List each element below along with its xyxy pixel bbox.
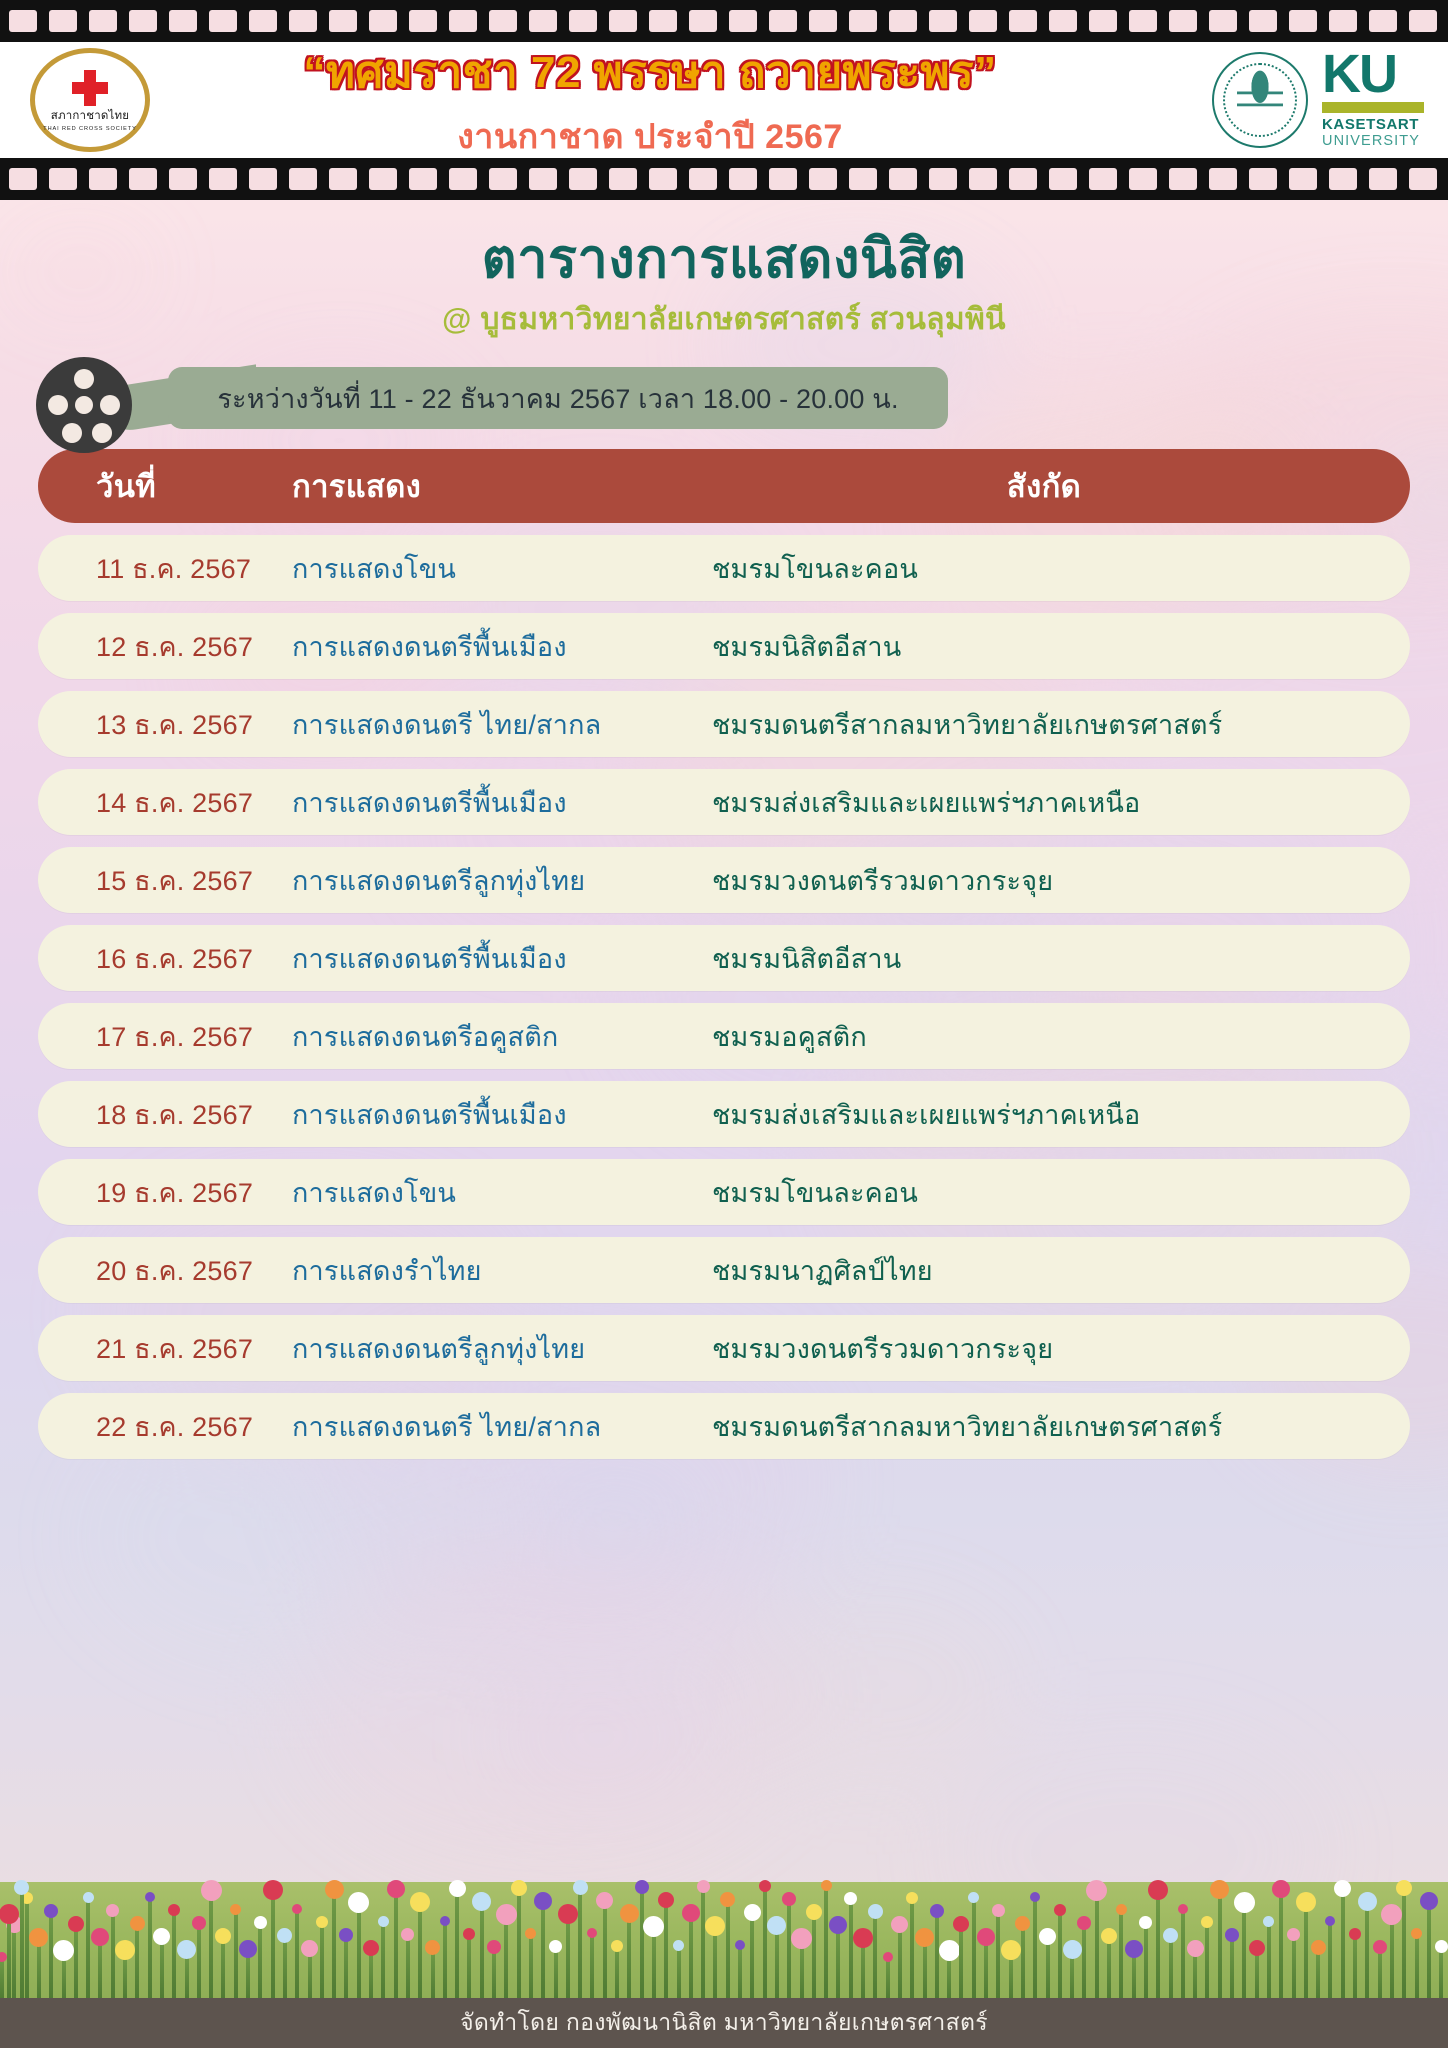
flower bbox=[787, 1904, 791, 2000]
film-perforation bbox=[409, 168, 437, 190]
film-perforation bbox=[329, 168, 357, 190]
flower bbox=[923, 1945, 927, 2000]
flower bbox=[812, 1918, 816, 2000]
flower-bloom bbox=[425, 1940, 440, 1955]
flower-bloom bbox=[1163, 1928, 1178, 1943]
film-perforation bbox=[849, 168, 877, 190]
film-perforation bbox=[489, 168, 517, 190]
cell-show: การแสดงดนตรีพื้นเมือง bbox=[292, 937, 712, 980]
flower bbox=[197, 1928, 201, 2000]
flower bbox=[1144, 1927, 1148, 2000]
column-header-date: วันที่ bbox=[38, 461, 292, 511]
page-title: ตารางการแสดงนิสิต bbox=[0, 228, 1448, 290]
flower-bloom bbox=[620, 1904, 639, 1923]
flower bbox=[221, 1942, 225, 2000]
column-header-show: การแสดง bbox=[292, 461, 732, 511]
flower-bloom bbox=[1411, 1928, 1422, 1939]
cell-date: 17 ธ.ค. 2567 bbox=[38, 1015, 292, 1058]
table-row: 16 ธ.ค. 2567การแสดงดนตรีพื้นเมืองชมรมนิส… bbox=[38, 925, 1410, 991]
film-perforation bbox=[289, 10, 317, 32]
date-time-banner: ระหว่างวันที่ 11 - 22 ธันวาคม 2567 เวลา … bbox=[168, 367, 948, 429]
table-row: 18 ธ.ค. 2567การแสดงดนตรีพื้นเมืองชมรมส่ง… bbox=[38, 1081, 1410, 1147]
column-header-org: สังกัด bbox=[732, 461, 1410, 511]
cell-org: ชมรมนาฏศิลป์ไทย bbox=[712, 1249, 1410, 1292]
main-content: ตารางการแสดงนิสิต @ บูธมหาวิทยาลัยเกษตรศ… bbox=[0, 200, 1448, 1459]
flower-bloom bbox=[325, 1880, 344, 1899]
table-row: 21 ธ.ค. 2567การแสดงดนตรีลูกทุ่งไทยชมรมวง… bbox=[38, 1315, 1410, 1381]
film-perforation bbox=[1049, 10, 1077, 32]
film-perforation bbox=[1409, 168, 1437, 190]
flower-bloom bbox=[759, 1880, 771, 1892]
flower bbox=[590, 1936, 594, 2000]
flower bbox=[886, 1960, 890, 2000]
film-perforation bbox=[849, 10, 877, 32]
flower-bloom bbox=[549, 1940, 562, 1953]
film-perforation bbox=[929, 10, 957, 32]
flower bbox=[12, 1931, 16, 2000]
flower bbox=[49, 1916, 53, 2000]
flower-bloom bbox=[1125, 1940, 1143, 1958]
flower-bloom bbox=[1349, 1928, 1361, 1940]
flower-bloom bbox=[791, 1928, 812, 1949]
flower bbox=[431, 1953, 435, 2000]
cell-show: การแสดงดนตรีพื้นเมือง bbox=[292, 781, 712, 824]
flower-bloom bbox=[1187, 1940, 1204, 1957]
flower-bloom bbox=[915, 1928, 934, 1947]
flower-bloom bbox=[806, 1904, 822, 1920]
film-perforation bbox=[1409, 10, 1437, 32]
film-perforation bbox=[449, 168, 477, 190]
flower bbox=[369, 1954, 373, 2000]
flower bbox=[775, 1933, 779, 2000]
ku-seal-icon bbox=[1212, 52, 1308, 148]
cell-date: 18 ธ.ค. 2567 bbox=[38, 1093, 292, 1136]
flower bbox=[160, 1943, 164, 2000]
cell-show: การแสดงโขน bbox=[292, 1171, 712, 1214]
film-perforation bbox=[769, 10, 797, 32]
flower bbox=[1353, 1938, 1357, 2000]
ku-initials: KU bbox=[1322, 51, 1396, 99]
flower-bloom bbox=[1116, 1904, 1127, 1915]
film-perforation bbox=[1009, 10, 1037, 32]
flower bbox=[20, 1893, 24, 2000]
film-perforation bbox=[1209, 10, 1237, 32]
film-reel-icon bbox=[36, 357, 132, 453]
flower-bloom bbox=[1178, 1904, 1188, 1914]
flower bbox=[25, 1902, 29, 2000]
film-perforation bbox=[129, 10, 157, 32]
cell-show: การแสดงดนตรีอคูสติก bbox=[292, 1015, 712, 1058]
film-perforation bbox=[529, 10, 557, 32]
flower bbox=[603, 1907, 607, 2000]
flower bbox=[1119, 1913, 1123, 2000]
flower-bloom bbox=[1358, 1892, 1377, 1911]
flower-bloom bbox=[697, 1880, 710, 1893]
ku-name-line1: KASETSART bbox=[1322, 116, 1419, 133]
film-perforation bbox=[409, 10, 437, 32]
flower bbox=[455, 1895, 459, 2000]
film-perforation bbox=[729, 10, 757, 32]
flower bbox=[1107, 1942, 1111, 2000]
flower bbox=[1181, 1912, 1185, 2000]
flower bbox=[517, 1894, 521, 2000]
cell-org: ชมรมวงดนตรีรวมดาวกระจุย bbox=[712, 1327, 1410, 1370]
cell-org: ชมรมส่งเสริมและเผยแพร่ฯภาคเหนือ bbox=[712, 781, 1410, 824]
flower bbox=[750, 1919, 754, 2000]
film-perforation bbox=[729, 168, 757, 190]
film-perforation bbox=[1049, 168, 1077, 190]
flower-bloom bbox=[1287, 1928, 1300, 1941]
table-row: 20 ธ.ค. 2567การแสดงรำไทยชมรมนาฏศิลป์ไทย bbox=[38, 1237, 1410, 1303]
flower-bloom bbox=[735, 1940, 745, 1950]
flower bbox=[1033, 1900, 1037, 2000]
film-perforation bbox=[49, 10, 77, 32]
flower-bloom bbox=[263, 1880, 283, 1900]
flower bbox=[1082, 1928, 1086, 2000]
flower bbox=[1169, 1941, 1173, 2000]
film-perforation bbox=[529, 168, 557, 190]
film-perforation bbox=[89, 168, 117, 190]
flower-bloom bbox=[487, 1940, 501, 1954]
flower bbox=[1218, 1897, 1222, 2000]
flower bbox=[1316, 1953, 1320, 2000]
flower bbox=[111, 1915, 115, 2000]
flower bbox=[1439, 1951, 1443, 2000]
flower bbox=[62, 1959, 66, 2000]
flower bbox=[972, 1901, 976, 2000]
film-perforation bbox=[1329, 168, 1357, 190]
flower bbox=[308, 1955, 312, 2000]
event-title: “ทศมราชา 72 พรรษา ถวายพระพร” bbox=[303, 37, 996, 107]
cell-date: 21 ธ.ค. 2567 bbox=[38, 1327, 292, 1370]
red-cross-icon bbox=[72, 70, 108, 106]
flower-bloom bbox=[496, 1904, 517, 1925]
flower-bloom bbox=[868, 1904, 883, 1919]
flower-bloom bbox=[883, 1952, 893, 1962]
film-perforation bbox=[569, 168, 597, 190]
cell-date: 11 ธ.ค. 2567 bbox=[38, 547, 292, 590]
flower bbox=[1046, 1943, 1050, 2000]
header-title-group: “ทศมราชา 72 พรรษา ถวายพระพร” งานกาชาด ปร… bbox=[200, 42, 1100, 158]
flower bbox=[381, 1925, 385, 2000]
ku-seal-emblem bbox=[1237, 70, 1283, 130]
flower bbox=[738, 1948, 742, 2000]
flower bbox=[984, 1944, 988, 2000]
film-perforation bbox=[1009, 168, 1037, 190]
cell-date: 14 ธ.ค. 2567 bbox=[38, 781, 292, 824]
table-body: 11 ธ.ค. 2567การแสดงโขนชมรมโขนละคอน12 ธ.ค… bbox=[38, 535, 1410, 1459]
flower bbox=[7, 1922, 11, 2000]
cell-org: ชมรมวงดนตรีรวมดาวกระจุย bbox=[712, 859, 1410, 902]
flower-bloom bbox=[301, 1940, 318, 1957]
film-perforation bbox=[1369, 168, 1397, 190]
flower-bloom bbox=[1001, 1940, 1021, 1960]
cell-show: การแสดงดนตรีลูกทุ่งไทย bbox=[292, 859, 712, 902]
flower bbox=[1021, 1929, 1025, 2000]
flower-garden-decoration bbox=[0, 1828, 1448, 2000]
flower bbox=[98, 1944, 102, 2000]
header-content: สภากาชาดไทย THAI RED CROSS SOCIETY “ทศมร… bbox=[0, 42, 1448, 158]
flower bbox=[1205, 1926, 1209, 2000]
flower bbox=[701, 1891, 705, 2000]
ku-wordmark: KU KASETSART UNIVERSITY bbox=[1322, 51, 1424, 150]
table-row: 12 ธ.ค. 2567การแสดงดนตรีพื้นเมืองชมรมนิส… bbox=[38, 613, 1410, 679]
flower bbox=[689, 1920, 693, 2000]
flower bbox=[1242, 1911, 1246, 2000]
flower bbox=[849, 1903, 853, 2000]
flower bbox=[123, 1958, 127, 2000]
cell-show: การแสดงดนตรี ไทย/สากล bbox=[292, 703, 712, 746]
flower bbox=[529, 1937, 533, 2000]
kasetsart-university-logo: KU KASETSART UNIVERSITY bbox=[1212, 48, 1424, 152]
flower-bloom bbox=[853, 1928, 873, 1948]
flower bbox=[935, 1916, 939, 2000]
cell-show: การแสดงโขน bbox=[292, 547, 712, 590]
table-header-row: วันที่ การแสดง สังกัด bbox=[38, 449, 1410, 523]
flower bbox=[726, 1905, 730, 2000]
flower bbox=[1292, 1939, 1296, 2000]
flower bbox=[1156, 1898, 1160, 2000]
film-perforation bbox=[89, 10, 117, 32]
film-perforation bbox=[609, 168, 637, 190]
film-perforation bbox=[1169, 168, 1197, 190]
film-perforation bbox=[649, 10, 677, 32]
flower bbox=[1255, 1954, 1259, 2000]
film-perforation bbox=[329, 10, 357, 32]
flower bbox=[443, 1924, 447, 2000]
flower bbox=[332, 1897, 336, 2000]
flower bbox=[0, 1960, 4, 2000]
flower-bloom bbox=[558, 1904, 578, 1924]
flower bbox=[406, 1939, 410, 2000]
flower-bloom bbox=[821, 1880, 832, 1891]
flower-bloom bbox=[192, 1916, 206, 1930]
flower bbox=[1009, 1958, 1013, 2000]
table-row: 15 ธ.ค. 2567การแสดงดนตรีลูกทุ่งไทยชมรมวง… bbox=[38, 847, 1410, 913]
film-perforation bbox=[1249, 168, 1277, 190]
film-perforation bbox=[1169, 10, 1197, 32]
flower-bloom bbox=[1420, 1892, 1438, 1910]
flower bbox=[1365, 1909, 1369, 2000]
flower bbox=[1402, 1894, 1406, 2000]
film-perforation bbox=[1249, 10, 1277, 32]
film-perforation bbox=[129, 168, 157, 190]
table-row: 22 ธ.ค. 2567การแสดงดนตรี ไทย/สากลชมรมดนต… bbox=[38, 1393, 1410, 1459]
film-perforation bbox=[1129, 10, 1157, 32]
footer-credit-text: จัดทำโดย กองพัฒนานิสิต มหาวิทยาลัยเกษตรศ… bbox=[460, 2005, 988, 2041]
film-perforation bbox=[1129, 168, 1157, 190]
table-row: 14 ธ.ค. 2567การแสดงดนตรีพื้นเมืองชมรมส่ง… bbox=[38, 769, 1410, 835]
flower bbox=[344, 1940, 348, 2000]
flower bbox=[357, 1911, 361, 2000]
date-time-text: ระหว่างวันที่ 11 - 22 ธันวาคม 2567 เวลา … bbox=[217, 377, 898, 420]
flower bbox=[1279, 1896, 1283, 2000]
flower-bloom bbox=[145, 1892, 155, 1902]
film-perforation bbox=[689, 10, 717, 32]
flower bbox=[37, 1945, 41, 2000]
flower bbox=[467, 1938, 471, 2000]
flower bbox=[209, 1899, 213, 2000]
flower-bloom bbox=[316, 1916, 328, 1928]
film-perforation bbox=[169, 168, 197, 190]
film-perforation bbox=[889, 168, 917, 190]
film-perforation bbox=[449, 10, 477, 32]
thai-red-cross-logo: สภากาชาดไทย THAI RED CROSS SOCIETY bbox=[30, 48, 150, 152]
film-perforation bbox=[969, 10, 997, 32]
date-banner-row: ระหว่างวันที่ 11 - 22 ธันวาคม 2567 เวลา … bbox=[0, 361, 1448, 433]
flower-bloom bbox=[1234, 1892, 1255, 1913]
flower bbox=[615, 1950, 619, 2000]
flower bbox=[824, 1889, 828, 2000]
flower bbox=[480, 1909, 484, 2000]
flower bbox=[185, 1957, 189, 2000]
flower-bloom bbox=[511, 1880, 527, 1896]
flower bbox=[554, 1951, 558, 2000]
film-perforation bbox=[569, 10, 597, 32]
flower-bloom bbox=[1435, 1940, 1448, 1953]
table-row: 19 ธ.ค. 2567การแสดงโขนชมรมโขนละคอน bbox=[38, 1159, 1410, 1225]
flower bbox=[234, 1913, 238, 2000]
cell-show: การแสดงดนตรีลูกทุ่งไทย bbox=[292, 1327, 712, 1370]
film-perforation bbox=[169, 10, 197, 32]
flower-bloom bbox=[177, 1940, 196, 1959]
background-blotch bbox=[502, 1674, 696, 1800]
flower-bloom bbox=[1249, 1940, 1265, 1956]
cell-org: ชมรมนิสิตอีสาน bbox=[712, 625, 1410, 668]
flower bbox=[566, 1922, 570, 2000]
flower-bloom bbox=[939, 1940, 960, 1961]
flower-bloom bbox=[977, 1928, 995, 1946]
flower bbox=[1058, 1914, 1062, 2000]
cell-date: 13 ธ.ค. 2567 bbox=[38, 703, 292, 746]
flower bbox=[86, 1901, 90, 2000]
flower-bloom bbox=[363, 1940, 379, 1956]
flower bbox=[640, 1892, 644, 2000]
film-perforation bbox=[649, 168, 677, 190]
flower bbox=[1267, 1925, 1271, 2000]
flower-bloom bbox=[201, 1880, 222, 1901]
flower bbox=[541, 1908, 545, 2000]
flower bbox=[1415, 1937, 1419, 2000]
flower-bloom bbox=[68, 1916, 84, 1932]
flower-bloom bbox=[387, 1880, 405, 1898]
flower bbox=[1390, 1923, 1394, 2000]
cell-org: ชมรมอคูสติก bbox=[712, 1015, 1410, 1058]
flower bbox=[1132, 1956, 1136, 2000]
flower-bloom bbox=[673, 1940, 684, 1951]
flower bbox=[394, 1896, 398, 2000]
flower-bloom bbox=[1101, 1928, 1117, 1944]
cell-show: การแสดงดนตรี ไทย/สากล bbox=[292, 1405, 712, 1448]
flower bbox=[652, 1935, 656, 2000]
flower bbox=[258, 1927, 262, 2000]
cell-org: ชมรมโขนละคอน bbox=[712, 547, 1410, 590]
flower bbox=[1328, 1924, 1332, 2000]
cell-org: ชมรมส่งเสริมและเผยแพร่ฯภาคเหนือ bbox=[712, 1093, 1410, 1136]
film-perforation bbox=[1209, 168, 1237, 190]
flower bbox=[959, 1930, 963, 2000]
film-perforation bbox=[809, 10, 837, 32]
redcross-english-label: THAI RED CROSS SOCIETY bbox=[43, 126, 136, 132]
table-row: 11 ธ.ค. 2567การแสดงโขนชมรมโขนละคอน bbox=[38, 535, 1410, 601]
flower bbox=[861, 1946, 865, 2000]
flower bbox=[763, 1890, 767, 2000]
cell-date: 16 ธ.ค. 2567 bbox=[38, 937, 292, 980]
flower bbox=[418, 1910, 422, 2000]
flower-bloom bbox=[992, 1904, 1005, 1917]
film-perforation bbox=[369, 10, 397, 32]
cell-org: ชมรมนิสิตอีสาน bbox=[712, 937, 1410, 980]
flower bbox=[898, 1931, 902, 2000]
film-perforation bbox=[809, 168, 837, 190]
flower bbox=[320, 1926, 324, 2000]
flower-bloom bbox=[115, 1940, 135, 1960]
film-perforation bbox=[209, 168, 237, 190]
table-row: 17 ธ.ค. 2567การแสดงดนตรีอคูสติกชมรมอคูสต… bbox=[38, 1003, 1410, 1069]
flower bbox=[295, 1912, 299, 2000]
page-subtitle: @ บูธมหาวิทยาลัยเกษตรศาสตร์ สวนลุมพินี bbox=[0, 296, 1448, 343]
film-perforation bbox=[9, 10, 37, 32]
cell-date: 12 ธ.ค. 2567 bbox=[38, 625, 292, 668]
flower bbox=[800, 1947, 804, 2000]
flower bbox=[172, 1914, 176, 2000]
film-perforation bbox=[1289, 168, 1317, 190]
cell-show: การแสดงดนตรีพื้นเมือง bbox=[292, 625, 712, 668]
flower bbox=[1341, 1895, 1345, 2000]
flower-bloom bbox=[1054, 1904, 1066, 1916]
flower bbox=[504, 1923, 508, 2000]
schedule-table: วันที่ การแสดง สังกัด 11 ธ.ค. 2567การแสด… bbox=[38, 449, 1410, 1459]
film-perforation bbox=[1289, 10, 1317, 32]
flower-bloom bbox=[130, 1916, 145, 1931]
flower bbox=[283, 1941, 287, 2000]
flower-bloom bbox=[1225, 1928, 1239, 1942]
event-subtitle: งานกาชาด ประจำปี 2567 bbox=[457, 109, 843, 163]
film-perforation bbox=[49, 168, 77, 190]
flower-bloom bbox=[682, 1904, 700, 1922]
flower-bloom bbox=[1063, 1940, 1082, 1959]
table-row: 13 ธ.ค. 2567การแสดงดนตรี ไทย/สากลชมรมดนต… bbox=[38, 691, 1410, 757]
redcross-thai-label: สภากาชาดไทย bbox=[51, 107, 130, 125]
flower-bloom bbox=[83, 1892, 94, 1903]
film-perforation bbox=[249, 10, 277, 32]
flower bbox=[148, 1900, 152, 2000]
film-perforation bbox=[889, 10, 917, 32]
flower bbox=[664, 1906, 668, 2000]
page-footer: จัดทำโดย กองพัฒนานิสิต มหาวิทยาลัยเกษตรศ… bbox=[0, 1998, 1448, 2048]
ku-name-line2: UNIVERSITY bbox=[1322, 133, 1420, 149]
cell-show: การแสดงดนตรีพื้นเมือง bbox=[292, 1093, 712, 1136]
filmstrip-header: สภากาชาดไทย THAI RED CROSS SOCIETY “ทศมร… bbox=[0, 0, 1448, 200]
flower bbox=[713, 1934, 717, 2000]
flower-bloom bbox=[930, 1904, 944, 1918]
flower-bloom bbox=[573, 1880, 588, 1895]
film-perforation bbox=[249, 168, 277, 190]
flower bbox=[1095, 1899, 1099, 2000]
ku-divider-bar bbox=[1322, 102, 1424, 113]
flower bbox=[1070, 1957, 1074, 2000]
flower-bloom bbox=[1373, 1940, 1387, 1954]
flower-bloom bbox=[239, 1940, 257, 1958]
film-perforation bbox=[209, 10, 237, 32]
film-perforation bbox=[1329, 10, 1357, 32]
film-perforation bbox=[289, 168, 317, 190]
film-perforation bbox=[609, 10, 637, 32]
flower-bloom bbox=[611, 1940, 623, 1952]
cell-org: ชมรมดนตรีสากลมหาวิทยาลัยเกษตรศาสตร์ bbox=[712, 1405, 1410, 1448]
cell-date: 20 ธ.ค. 2567 bbox=[38, 1249, 292, 1292]
flower-bloom bbox=[440, 1916, 450, 1926]
